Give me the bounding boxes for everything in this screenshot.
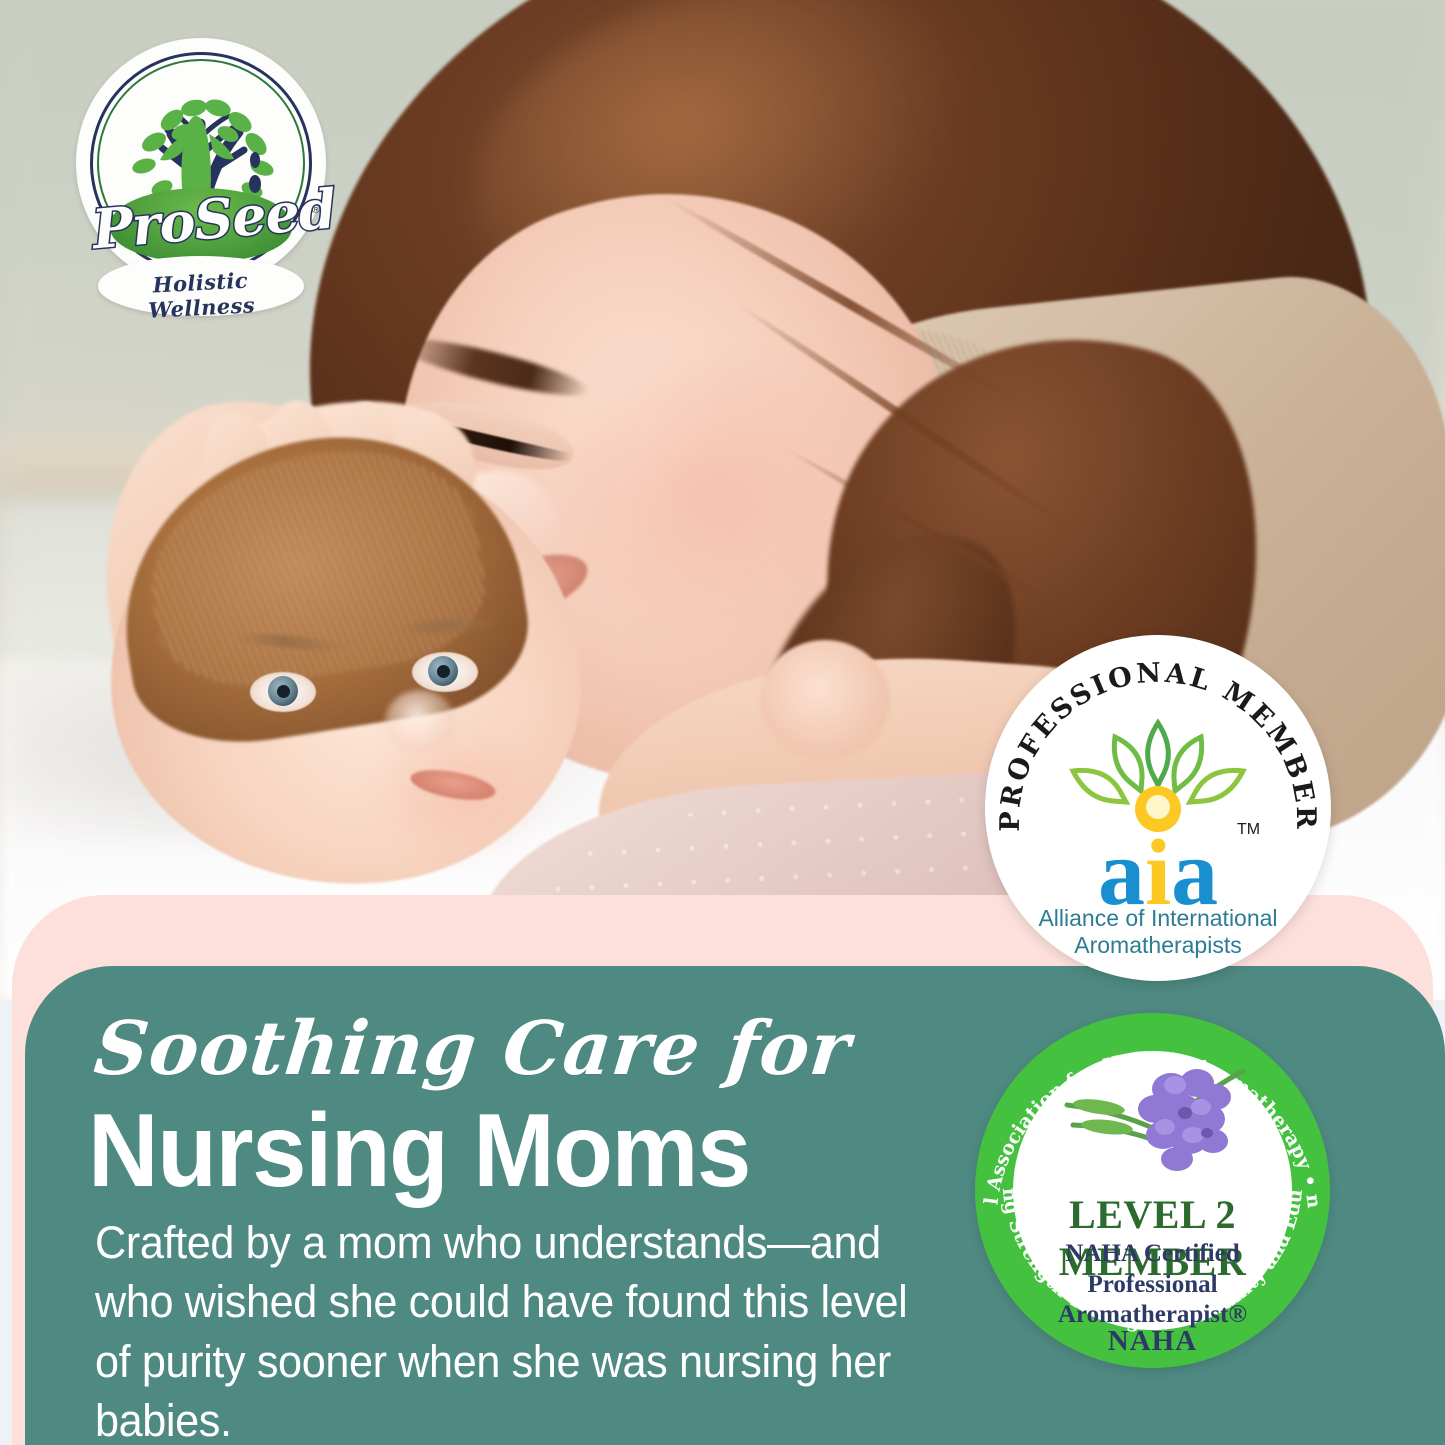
aia-subtitle-line-2: Aromatherapists xyxy=(985,932,1331,959)
baby-nose xyxy=(385,690,455,752)
marketing-banner: Soothing Care for Nursing Moms Crafted b… xyxy=(0,0,1445,1445)
baby-pupil xyxy=(277,685,290,698)
naha-level-2-member-badge: National Association for Holistic Aromat… xyxy=(975,1013,1330,1368)
aia-professional-member-badge: PROFESSIONAL MEMBER aia TM Alliance of I… xyxy=(985,635,1331,981)
aia-subtitle: Alliance of International Aromatherapist… xyxy=(985,905,1331,959)
naha-cert-line-2: Professional xyxy=(975,1270,1330,1301)
proseed-brand-logo: ProSeed ® Holistic Wellness xyxy=(76,38,326,328)
trademark-icon: TM xyxy=(1237,821,1260,839)
baby-hand xyxy=(760,640,890,760)
logo-tagline: Holistic Wellness xyxy=(99,265,303,326)
page-title: Nursing Moms xyxy=(88,1092,750,1211)
naha-org-mark: NAHA xyxy=(975,1325,1330,1358)
naha-certification: NAHA Certified Professional Aromatherapi… xyxy=(975,1239,1330,1331)
lavender-sprig-icon xyxy=(1055,1049,1265,1179)
aia-subtitle-line-1: Alliance of International xyxy=(985,905,1331,932)
baby-pupil xyxy=(437,665,450,678)
body-paragraph: Crafted by a mom who understands—and who… xyxy=(95,1213,945,1445)
naha-cert-line-1: NAHA Certified xyxy=(975,1239,1330,1270)
leaf-sunburst-icon xyxy=(1057,713,1259,833)
registered-trademark-icon: ® xyxy=(312,204,320,216)
headline-script-line: Soothing Care for xyxy=(90,1006,854,1092)
aia-wordmark: aia xyxy=(985,831,1331,916)
